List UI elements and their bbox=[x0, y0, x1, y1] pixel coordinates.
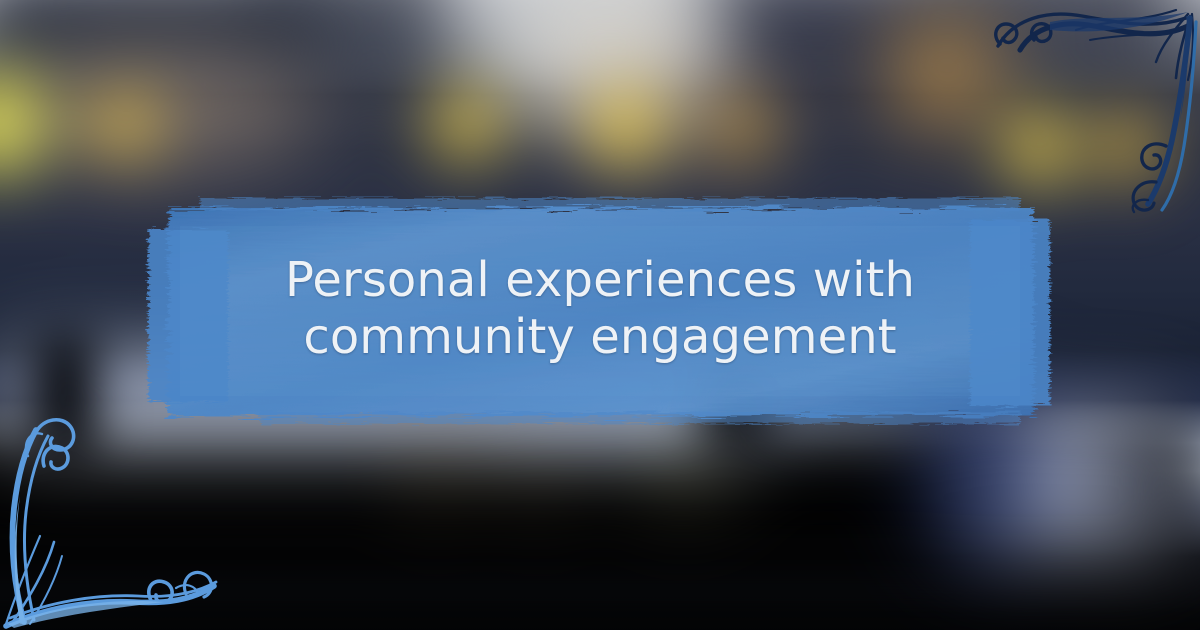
bokeh-light bbox=[710, 98, 772, 160]
brush-stroke-shape bbox=[140, 186, 1060, 438]
poster-canvas: Personal experiences with community enga… bbox=[0, 0, 1200, 630]
corner-flourish-bottom-left bbox=[0, 410, 222, 630]
bokeh-highlight bbox=[1090, 440, 1180, 520]
filigree-icon bbox=[0, 410, 222, 630]
bokeh-light bbox=[640, 445, 730, 491]
bokeh-light bbox=[510, 452, 570, 492]
bokeh-light bbox=[90, 92, 160, 158]
bokeh-light bbox=[430, 88, 504, 160]
filigree-icon bbox=[990, 0, 1200, 215]
skyline-silhouette bbox=[270, 0, 450, 90]
bokeh-light bbox=[588, 90, 664, 164]
bokeh-light bbox=[410, 450, 470, 490]
corner-flourish-top-right bbox=[990, 0, 1200, 215]
title-banner bbox=[140, 186, 1060, 438]
bokeh-light bbox=[890, 18, 1000, 128]
